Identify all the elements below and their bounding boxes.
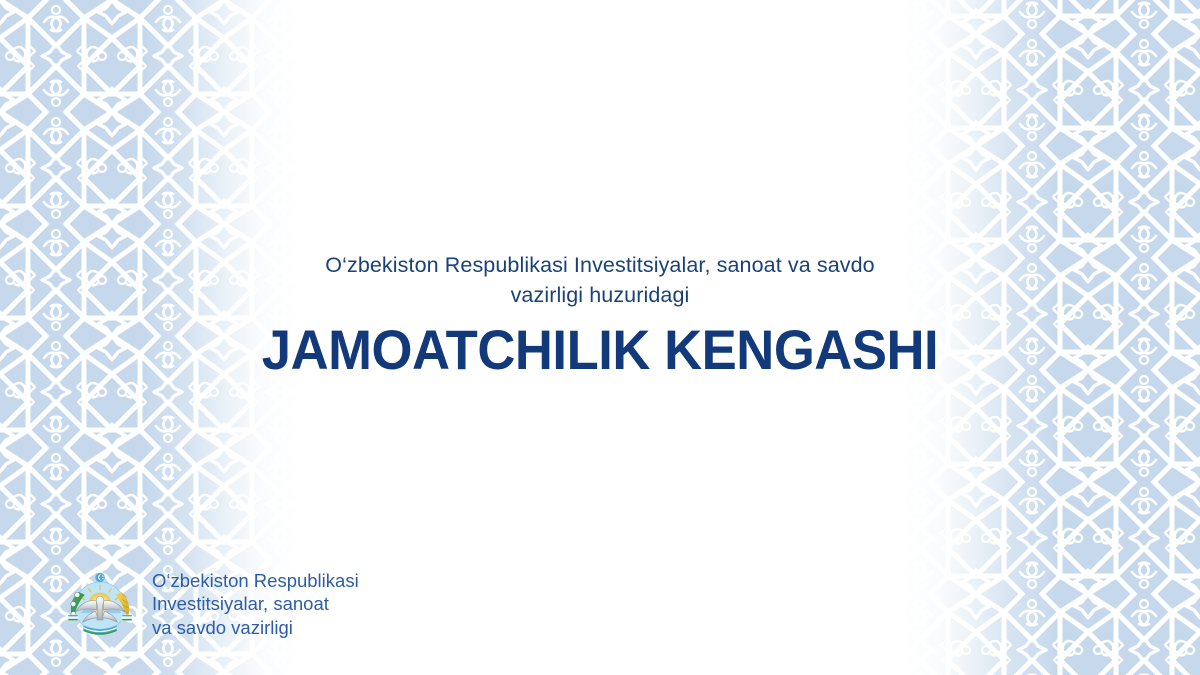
ministry-line-3: va savdo vazirligi <box>152 616 359 640</box>
uzbekistan-coat-of-arms-icon <box>62 566 138 642</box>
ministry-line-1: O‘zbekiston Respublikasi <box>152 569 359 593</box>
headline-block: O‘zbekiston Respublikasi Investitsiyalar… <box>0 250 1200 380</box>
ministry-name: O‘zbekiston Respublikasi Investitsiyalar… <box>152 569 359 640</box>
ministry-logo-lockup: O‘zbekiston Respublikasi Investitsiyalar… <box>62 566 359 642</box>
presentation-slide: O‘zbekiston Respublikasi Investitsiyalar… <box>0 0 1200 675</box>
subtitle: O‘zbekiston Respublikasi Investitsiyalar… <box>240 250 960 310</box>
page-title: JAMOATCHILIK KENGASHI <box>36 320 1164 380</box>
subtitle-line-1: O‘zbekiston Respublikasi Investitsiyalar… <box>240 250 960 280</box>
ministry-line-2: Investitsiyalar, sanoat <box>152 592 359 616</box>
subtitle-line-2: vazirligi huzuridagi <box>240 280 960 310</box>
